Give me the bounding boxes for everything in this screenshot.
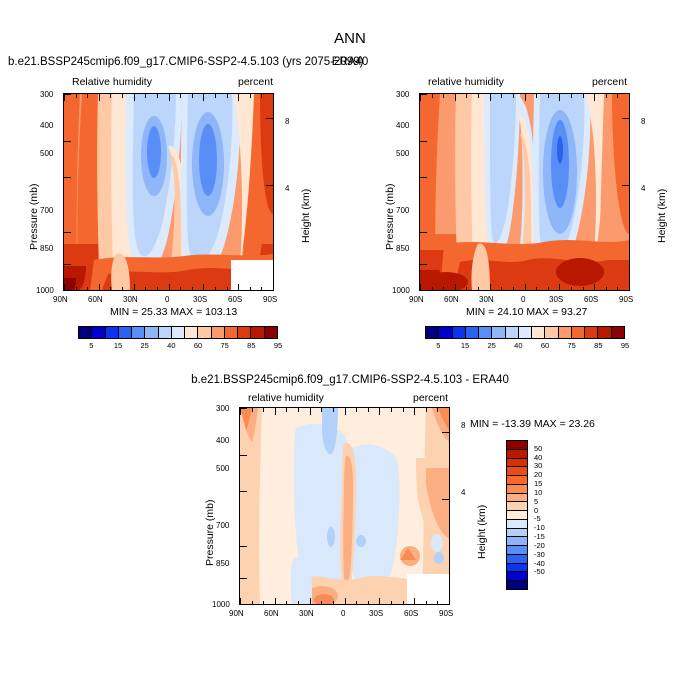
colorbar-cell (212, 327, 225, 338)
panel-obs-xtick-minor (548, 287, 549, 291)
colorbar-cell (238, 327, 251, 338)
colorbar-tick-label: -10 (534, 523, 545, 532)
panel-model-ytick-700: 700 (40, 206, 53, 215)
panel-obs-minmax: MIN = 24.10 MAX = 93.27 (466, 306, 587, 318)
panel-obs-xtick-minor-top (536, 94, 537, 98)
panel-model-xtick-minor (122, 287, 123, 291)
panel-model-ytick (64, 290, 71, 291)
panel-model-xtick-minor-top (76, 94, 77, 98)
panel-obs-ytick (420, 232, 427, 233)
colorbar-cell (507, 537, 527, 546)
panel-model-xtick-top (203, 94, 204, 101)
panel-diff-xtick-minor-top (333, 408, 334, 412)
panel-obs-ytick-500: 500 (396, 149, 409, 158)
colorbar-cell (612, 327, 624, 338)
panel-obs-xtick-minor-top (513, 94, 514, 98)
colorbar-tick-label: 75 (215, 341, 235, 350)
panel-diff-xtick (275, 598, 276, 605)
colorbar-cell (507, 564, 527, 573)
colorbar-cell (265, 327, 277, 338)
figure-title: ANN (0, 30, 700, 47)
colorbar-tick-label: 40 (508, 341, 528, 350)
panel-diff-xtick-60S: 60S (404, 609, 418, 618)
colorbar-cell (506, 327, 519, 338)
panel-diff-xtick-minor-top (263, 408, 264, 412)
colorbar-cell (426, 327, 439, 338)
panel-diff-ytick (240, 491, 247, 492)
panel-model-ytick-500: 500 (40, 149, 53, 158)
colorbar-tick-label: 5 (428, 341, 448, 350)
panel-diff-ytick-1000: 1000 (212, 600, 230, 609)
panel-obs-xtick-minor (513, 287, 514, 291)
panel-diff-xtick-30S: 30S (369, 609, 383, 618)
panel-model-y2axis-title: Height (km) (300, 243, 354, 255)
panel-obs-xtick-minor (501, 287, 502, 291)
panel-diff-xtick-minor (252, 601, 253, 605)
panel-obs-xtick-30N: 30N (479, 295, 494, 304)
panel-model-xtick-0: 0 (165, 295, 169, 304)
colorbar-cell (106, 327, 119, 338)
panel-diff-xtick-top (379, 408, 380, 415)
panel-obs-contour-field (420, 94, 629, 290)
panel-model-xtick-minor-top (110, 94, 111, 98)
panel-obs-xtick-minor (571, 287, 572, 291)
colorbar-cell (507, 450, 527, 459)
colorbar-cell (172, 327, 185, 338)
colorbar-cell (507, 520, 527, 529)
panel-obs-xtick-top (594, 94, 595, 101)
panel-diff-xtick-minor-top (286, 408, 287, 412)
panel-obs-xtick-90N: 90N (409, 295, 424, 304)
panel-model-ytick (64, 232, 71, 233)
colorbar-cell (79, 327, 92, 338)
panel-diff-xtick-90N: 90N (229, 609, 244, 618)
panel-diff-ytick (240, 578, 247, 579)
panel-obs-xtick-minor-top (466, 94, 467, 98)
panel-obs-y2tick (622, 185, 629, 186)
colorbar-cell (251, 327, 264, 338)
panel-obs-xtick-top (629, 94, 630, 101)
panel-diff-xtick-60N: 60N (264, 609, 279, 618)
panel-obs-xtick-minor (606, 287, 607, 291)
colorbar-cell (466, 327, 479, 338)
panel-model-xtick-top (273, 94, 274, 101)
colorbar-tick-label: -50 (534, 567, 545, 576)
panel-model-ytick (64, 94, 71, 95)
panel-obs-xtick-minor-top (432, 94, 433, 98)
panel-model-xtick-top (99, 94, 100, 101)
panel-diff-ytick-500: 500 (216, 464, 229, 473)
panel-obs-xtick-minor-top (571, 94, 572, 98)
panel-model-ytick-850: 850 (40, 244, 53, 253)
panel-model-y2tick-8: 8 (285, 117, 289, 126)
panel-diff-xtick-minor (263, 601, 264, 605)
panel-model-ytick-400: 400 (40, 121, 53, 130)
panel-diff-xtick-top (345, 408, 346, 415)
colorbar-tick-label: 5 (81, 341, 101, 350)
panel-model-xtick-minor-top (145, 94, 146, 98)
panel-diff-xtick-minor (368, 601, 369, 605)
panel-obs-ytick-1000: 1000 (392, 286, 410, 295)
panel-model-ytick-1000: 1000 (36, 286, 54, 295)
panel-obs-ytick (420, 177, 427, 178)
panel-diff-xtick-minor-top (391, 408, 392, 412)
panel-diff-xtick-minor (403, 601, 404, 605)
panel-model-xtick (273, 284, 274, 291)
panel-obs-xtick-minor (536, 287, 537, 291)
panel-obs-variable-label: relative humidity (428, 76, 504, 88)
panel-obs-xtick-minor (478, 287, 479, 291)
colorbar-cell (507, 502, 527, 511)
colorbar-cell (507, 494, 527, 503)
colorbar-tick-label: -40 (534, 559, 545, 568)
panel-diff-xtick-top (310, 408, 311, 415)
panel-obs-xtick-minor-top (548, 94, 549, 98)
panel-obs-units-label: percent (592, 76, 627, 88)
panel-model-xtick-minor-top (122, 94, 123, 98)
panel-obs-xtick-minor (466, 287, 467, 291)
panel-diff-xtick-top (275, 408, 276, 415)
panel-model-xtick (134, 284, 135, 291)
colorbar-tick-label: 50 (534, 444, 542, 453)
colorbar-cell (507, 572, 527, 581)
panel-obs-header: ERA40 (0, 56, 700, 68)
panel-obs-xtick-0: 0 (521, 295, 525, 304)
panel-obs-y2axis-title: Height (km) (656, 243, 700, 255)
panel-diff-ytick-700: 700 (216, 521, 229, 530)
colorbar-tick-label: -5 (534, 514, 541, 523)
colorbar-tick-label: 40 (534, 453, 542, 462)
colorbar-tick-label: 15 (534, 479, 542, 488)
panel-diff-ytick (240, 408, 247, 409)
panel-obs-xtick-60N: 60N (444, 295, 459, 304)
panel-obs-ytick-700: 700 (396, 206, 409, 215)
colorbar-cell (507, 476, 527, 485)
colorbar-cell (519, 327, 532, 338)
colorbar-cell (507, 555, 527, 564)
panel-obs-xtick-top (490, 94, 491, 101)
colorbar-tick-label: 10 (534, 488, 542, 497)
colorbar-cell (585, 327, 598, 338)
panel-model-xtick-minor (261, 287, 262, 291)
colorbar-cell (507, 441, 527, 450)
panel-diff-xtick-minor-top (252, 408, 253, 412)
panel-diff-xtick (449, 598, 450, 605)
panel-model-ytick (64, 141, 71, 142)
colorbar-tick-label: 30 (534, 461, 542, 470)
panel-obs-xtick-minor (617, 287, 618, 291)
panel-obs-xtick (629, 284, 630, 291)
panel-obs-xtick-minor-top (443, 94, 444, 98)
panel-model-xtick-90N: 90N (53, 295, 68, 304)
panel-diff-ytick (240, 604, 247, 605)
panel-diff-ytick-850: 850 (216, 559, 229, 568)
panel-diff-y2tick (442, 499, 449, 500)
panel-model-units-label: percent (238, 76, 273, 88)
panel-model-ytick (64, 264, 71, 265)
panel-diff-xtick-minor (437, 601, 438, 605)
colorbar-cell (119, 327, 132, 338)
panel-model-xtick-minor (145, 287, 146, 291)
colorbar-tick-label: 5 (534, 497, 538, 506)
colorbar-cell (507, 459, 527, 468)
panel-diff-xtick-top (240, 408, 241, 415)
panel-diff-xtick (379, 598, 380, 605)
panel-model-xtick-minor-top (250, 94, 251, 98)
panel-obs-xtick (455, 284, 456, 291)
colorbar-tick-label: 25 (135, 341, 155, 350)
panel-obs-ytick (420, 264, 427, 265)
panel-model-xtick-60S: 60S (228, 295, 242, 304)
panel-diff-xtick-top (414, 408, 415, 415)
panel-obs-xtick-30S: 30S (549, 295, 563, 304)
panel-model-xtick-90S: 90S (263, 295, 277, 304)
panel-model-ytick (64, 177, 71, 178)
panel-model-xtick-minor-top (180, 94, 181, 98)
panel-model-variable-label: Relative humidity (72, 76, 152, 88)
panel-diff-xtick-minor (391, 601, 392, 605)
panel-diff-xtick-minor-top (403, 408, 404, 412)
colorbar-tick-label: 25 (482, 341, 502, 350)
panel-obs-xtick-minor (443, 287, 444, 291)
panel-model-plot (63, 93, 274, 291)
panel-obs-plot (419, 93, 630, 291)
panel-diff-xtick-minor (333, 601, 334, 605)
colorbar-cell (92, 327, 105, 338)
panel-obs-xtick-minor-top (606, 94, 607, 98)
panel-obs-ytick-850: 850 (396, 244, 409, 253)
panel-model-ytick-300: 300 (40, 90, 53, 99)
colorbar-cell (507, 546, 527, 555)
panel-obs-xtick-minor-top (478, 94, 479, 98)
colorbar-cell (198, 327, 211, 338)
panel-obs-xtick-top (420, 94, 421, 101)
colorbar-cell (225, 327, 238, 338)
colorbar-cell (507, 467, 527, 476)
panel-obs-ytick-300: 300 (396, 90, 409, 99)
panel-model-xtick-minor-top (227, 94, 228, 98)
colorbar-tick-label: 60 (535, 341, 555, 350)
panel-diff-colorbar-labels: 50403020151050-5-10-15-20-30-40-50 (532, 440, 566, 590)
colorbar-cell (507, 529, 527, 538)
panel-diff-colorbar (506, 440, 528, 590)
panel-model-xtick-top (238, 94, 239, 101)
colorbar-cell (492, 327, 505, 338)
panel-diff-y2tick (442, 432, 449, 433)
panel-obs-ytick (420, 94, 427, 95)
colorbar-tick-label: 95 (268, 341, 288, 350)
panel-model-xtick-top (134, 94, 135, 101)
colorbar-cell (185, 327, 198, 338)
panel-model-xtick (99, 284, 100, 291)
panel-model-colorbar-labels: 515254060758595 (78, 341, 278, 353)
panel-diff-xtick-minor (286, 601, 287, 605)
panel-model-xtick (203, 284, 204, 291)
panel-obs-colorbar (425, 326, 625, 339)
panel-model-xtick-minor (215, 287, 216, 291)
colorbar-cell (507, 511, 527, 520)
panel-model-xtick-minor (192, 287, 193, 291)
colorbar-tick-label: 95 (615, 341, 635, 350)
panel-obs-xtick (559, 284, 560, 291)
panel-model-xtick-30S: 30S (193, 295, 207, 304)
panel-diff-xtick-top (449, 408, 450, 415)
panel-model-xtick (169, 284, 170, 291)
panel-diff-units-label: percent (413, 392, 448, 404)
panel-obs-ytick-400: 400 (396, 121, 409, 130)
panel-diff-xtick (414, 598, 415, 605)
colorbar-tick-label: 15 (108, 341, 128, 350)
panel-obs-ytick (420, 141, 427, 142)
colorbar-tick-label: 15 (455, 341, 475, 350)
panel-model-xtick-minor (227, 287, 228, 291)
panel-model-xtick-top (169, 94, 170, 101)
panel-diff-header-text: b.e21.BSSP245cmip6.f09_g17.CMIP6-SSP2-4.… (191, 374, 509, 386)
colorbar-tick-label: -20 (534, 541, 545, 550)
panel-model-y2tick-4: 4 (285, 184, 289, 193)
panel-model-contour-field (64, 94, 273, 290)
panel-obs-xtick (490, 284, 491, 291)
colorbar-cell (507, 485, 527, 494)
colorbar-tick-label: 40 (161, 341, 181, 350)
panel-model-xtick-minor (76, 287, 77, 291)
panel-model-xtick-minor (250, 287, 251, 291)
panel-diff-ytick-400: 400 (216, 436, 229, 445)
panel-model-xtick-top (64, 94, 65, 101)
panel-model-xtick-minor-top (192, 94, 193, 98)
colorbar-cell (545, 327, 558, 338)
panel-model-xtick-minor (110, 287, 111, 291)
panel-obs-xtick-minor-top (617, 94, 618, 98)
panel-obs-xtick-minor (432, 287, 433, 291)
panel-model-colorbar (78, 326, 278, 339)
panel-diff-variable-label: relative humidity (248, 392, 324, 404)
panel-diff-xtick-minor-top (298, 408, 299, 412)
colorbar-tick-label: 0 (534, 506, 538, 515)
panel-obs-y2tick-4: 4 (641, 184, 645, 193)
panel-diff-xtick-minor-top (356, 408, 357, 412)
colorbar-cell (532, 327, 545, 338)
panel-diff-xtick-minor-top (368, 408, 369, 412)
panel-model-xtick-60N: 60N (88, 295, 103, 304)
colorbar-cell (145, 327, 158, 338)
panel-obs-xtick-90S: 90S (619, 295, 633, 304)
panel-model-xtick (238, 284, 239, 291)
panel-obs-y2tick-8: 8 (641, 117, 645, 126)
panel-diff-xtick-minor-top (437, 408, 438, 412)
colorbar-tick-label: 75 (562, 341, 582, 350)
panel-model-xtick-minor (180, 287, 181, 291)
panel-model-y2tick (266, 185, 273, 186)
panel-obs-header-text: ERA40 (90, 56, 610, 68)
panel-obs-xtick-60S: 60S (584, 295, 598, 304)
panel-diff-ytick-300: 300 (216, 404, 229, 413)
colorbar-cell (598, 327, 611, 338)
panel-diff-xtick-minor (298, 601, 299, 605)
panel-obs-colorbar-labels: 515254060758595 (425, 341, 625, 353)
panel-model-xtick-minor (87, 287, 88, 291)
colorbar-cell (507, 581, 527, 589)
colorbar-cell (479, 327, 492, 338)
panel-obs-xtick-minor (583, 287, 584, 291)
panel-diff-xtick-minor-top (426, 408, 427, 412)
panel-model-y2tick (266, 118, 273, 119)
colorbar-cell (453, 327, 466, 338)
panel-diff-ytick (240, 546, 247, 547)
panel-model-xtick-minor-top (215, 94, 216, 98)
colorbar-cell (132, 327, 145, 338)
panel-diff-xtick-minor (321, 601, 322, 605)
panel-diff-xtick-0: 0 (341, 609, 345, 618)
colorbar-cell (439, 327, 452, 338)
panel-diff-xtick-30N: 30N (299, 609, 314, 618)
panel-diff-xtick-minor (356, 601, 357, 605)
colorbar-cell (559, 327, 572, 338)
colorbar-tick-label: -30 (534, 550, 545, 559)
colorbar-cell (572, 327, 585, 338)
panel-obs-xtick-minor-top (501, 94, 502, 98)
colorbar-tick-label: 85 (241, 341, 261, 350)
panel-diff-xtick (345, 598, 346, 605)
panel-diff-minmax: MIN = -13.39 MAX = 23.26 (470, 418, 595, 430)
panel-diff-ytick (240, 455, 247, 456)
panel-model-xtick-minor (157, 287, 158, 291)
panel-model-xtick-minor-top (157, 94, 158, 98)
panel-diff-xtick-minor-top (321, 408, 322, 412)
panel-model-minmax: MIN = 25.33 MAX = 103.13 (110, 306, 237, 318)
colorbar-tick-label: 20 (534, 470, 542, 479)
panel-obs-y2tick (622, 118, 629, 119)
panel-model-xtick-minor-top (261, 94, 262, 98)
panel-diff-xtick-minor (426, 601, 427, 605)
panel-model-xtick-30N: 30N (123, 295, 138, 304)
panel-obs-ytick (420, 290, 427, 291)
panel-diff-xtick-90S: 90S (439, 609, 453, 618)
panel-diff-header: b.e21.BSSP245cmip6.f09_g17.CMIP6-SSP2-4.… (0, 374, 700, 386)
panel-diff-contour-field (240, 408, 449, 604)
panel-model-xtick-minor-top (87, 94, 88, 98)
panel-obs-xtick (525, 284, 526, 291)
colorbar-tick-label: 60 (188, 341, 208, 350)
panel-obs-xtick-top (455, 94, 456, 101)
colorbar-tick-label: -15 (534, 532, 545, 541)
panel-diff-xtick (310, 598, 311, 605)
panel-obs-xtick-top (559, 94, 560, 101)
colorbar-tick-label: 85 (588, 341, 608, 350)
panel-obs-xtick-minor-top (583, 94, 584, 98)
panel-diff-y2tick-8: 8 (461, 421, 465, 430)
panel-obs-xtick-top (525, 94, 526, 101)
colorbar-cell (159, 327, 172, 338)
panel-diff-plot (239, 407, 450, 605)
panel-diff-y2tick-4: 4 (461, 488, 465, 497)
panel-obs-xtick (594, 284, 595, 291)
